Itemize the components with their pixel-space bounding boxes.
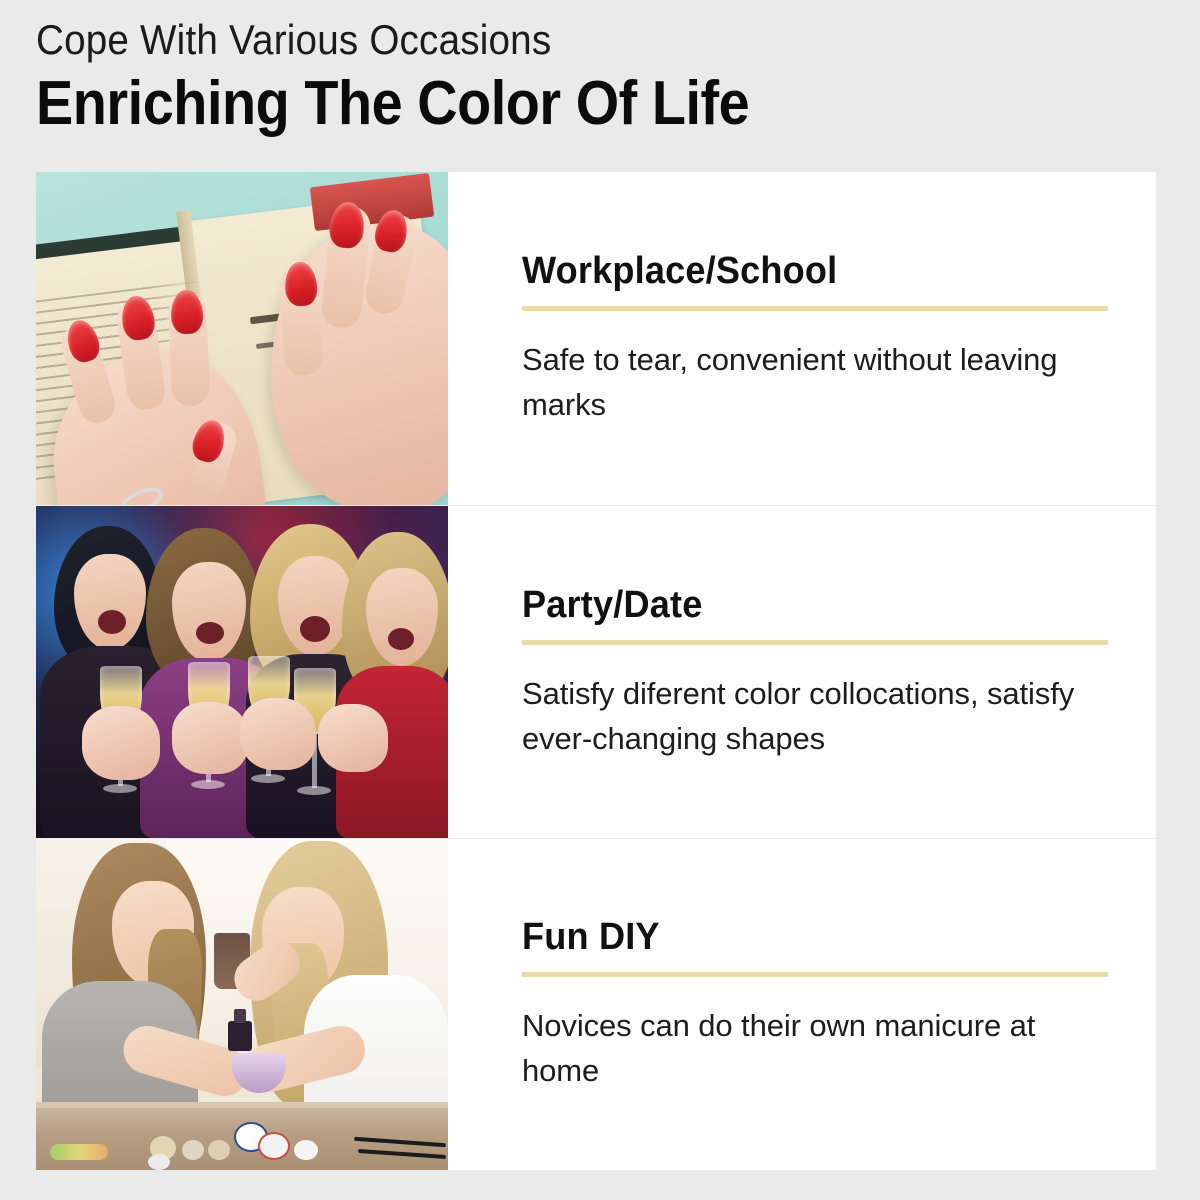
occasion-row: Fun DIY Novices can do their own manicur… bbox=[36, 838, 1156, 1170]
occasion-text-party-date: Party/Date Satisfy diferent color colloc… bbox=[448, 506, 1168, 838]
party-hand bbox=[318, 704, 388, 772]
party-hand bbox=[172, 702, 248, 774]
header-eyebrow: Cope With Various Occasions bbox=[36, 14, 1066, 66]
occasion-image-party-date bbox=[36, 506, 448, 838]
card-title: Workplace/School bbox=[522, 250, 1079, 292]
nail-polish-bottle bbox=[228, 1021, 252, 1051]
table-trinket bbox=[294, 1140, 318, 1160]
card-body: Safe to tear, convenient without leaving… bbox=[522, 337, 1082, 427]
page-title: Enriching The Color Of Life bbox=[36, 68, 1044, 140]
occasions-panel: Workplace/School Safe to tear, convenien… bbox=[36, 172, 1156, 1170]
champagne-glass-base bbox=[103, 784, 137, 793]
champagne-glass-base bbox=[251, 774, 285, 783]
table-trinket bbox=[148, 1154, 170, 1170]
card-divider-rule bbox=[522, 640, 1108, 645]
occasion-row: Party/Date Satisfy diferent color colloc… bbox=[36, 505, 1156, 838]
card-title: Fun DIY bbox=[522, 916, 1079, 958]
page-header: Cope With Various Occasions Enriching Th… bbox=[36, 14, 1156, 140]
book-photo-illustration bbox=[36, 172, 448, 505]
occasion-row: Workplace/School Safe to tear, convenien… bbox=[36, 172, 1156, 505]
occasion-image-workplace-school bbox=[36, 172, 448, 505]
card-divider-rule bbox=[522, 306, 1108, 311]
party-woman-mouth bbox=[300, 616, 330, 642]
party-hand bbox=[82, 706, 160, 780]
card-body: Satisfy diferent color collocations, sat… bbox=[522, 671, 1082, 761]
diy-photo-illustration bbox=[36, 839, 448, 1170]
table-trinket bbox=[182, 1140, 204, 1160]
party-woman-mouth bbox=[388, 628, 414, 650]
party-woman-mouth bbox=[98, 610, 126, 634]
party-photo-illustration bbox=[36, 506, 448, 838]
card-body: Novices can do their own manicure at hom… bbox=[522, 1003, 1082, 1093]
occasion-text-workplace-school: Workplace/School Safe to tear, convenien… bbox=[448, 172, 1168, 505]
table-trinket bbox=[50, 1144, 108, 1160]
card-divider-rule bbox=[522, 972, 1108, 977]
table-trinket bbox=[258, 1132, 290, 1160]
card-title: Party/Date bbox=[522, 584, 1079, 626]
occasion-text-fun-diy: Fun DIY Novices can do their own manicur… bbox=[448, 839, 1168, 1170]
table-trinket bbox=[208, 1140, 230, 1160]
party-woman-mouth bbox=[196, 622, 224, 644]
champagne-glass-base bbox=[297, 786, 331, 795]
occasion-image-fun-diy bbox=[36, 839, 448, 1170]
party-hand bbox=[240, 698, 316, 770]
champagne-glass-base bbox=[191, 780, 225, 789]
nail-polish-bottle-cap bbox=[234, 1009, 246, 1023]
